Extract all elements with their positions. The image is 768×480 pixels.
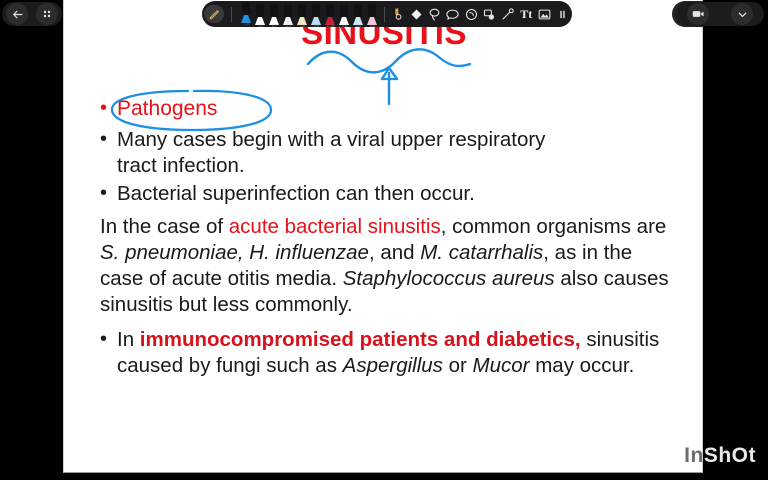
bullet-viral: • Many cases begin with a viral upper re…: [100, 127, 680, 179]
slide-page[interactable]: SINUSITIS • Pathogens • Many cases begin…: [63, 0, 703, 473]
last-text-1: In: [117, 328, 140, 351]
bullet-immunocompromised: • In immunocompromised patients and diab…: [100, 327, 680, 379]
bullet-dot: •: [100, 181, 117, 207]
bullet-dot: •: [100, 327, 117, 353]
slide-body: • Pathogens • Many cases begin with a vi…: [100, 96, 680, 381]
bullet-viral-text: Many cases begin with a viral upper resp…: [117, 127, 680, 179]
last-text-4: may occur.: [530, 354, 635, 377]
text-tool-button[interactable]: Tt: [518, 3, 534, 25]
pen-crimson[interactable]: 0.75: [324, 3, 337, 27]
bullet-viral-line1: Many cases begin with a viral upper resp…: [117, 128, 545, 151]
pen-size-label: 0.6: [338, 24, 351, 28]
bullet-pathogens-label: Pathogens: [117, 96, 680, 123]
last-highlight-immunocompromised: immunocompromised patients and diabetics…: [140, 328, 581, 351]
back-button[interactable]: [6, 3, 28, 25]
grid-dots-icon: [41, 8, 53, 20]
watermark: InShOt: [684, 444, 756, 468]
pen-white-4[interactable]: 0.6: [338, 3, 351, 27]
stamp-icon: [464, 7, 479, 22]
pen-barrel: [312, 4, 320, 17]
bullet-bacterial: • Bacterial superinfection can then occu…: [100, 181, 680, 207]
shapes-icon: [482, 7, 497, 22]
comment-bubble-icon: [445, 7, 460, 22]
pen-lightblue[interactable]: 0.5: [310, 3, 323, 27]
pencil-icon: [208, 8, 221, 21]
pen-white-2[interactable]: 0.7: [268, 3, 281, 27]
pen-white-1[interactable]: 1.0: [254, 3, 267, 27]
pen-palette: 1.01.00.71.00.60.50.750.60.60.6: [236, 1, 380, 27]
stamp-button[interactable]: [463, 3, 479, 25]
pause-button[interactable]: [555, 3, 571, 25]
expand-button[interactable]: [731, 3, 753, 25]
top-toolbar: 1.01.00.71.00.60.50.750.60.60.6: [0, 0, 768, 28]
pen-cream[interactable]: 0.6: [296, 3, 309, 27]
pen-size-label: 0.6: [366, 24, 379, 28]
para-text-1: In the case of: [100, 215, 229, 238]
grid-menu-button[interactable]: [36, 3, 58, 25]
para-highlight-acute-bacterial-sinusitis: acute bacterial sinusitis: [229, 215, 441, 238]
bullet-dot: •: [100, 96, 117, 122]
pen-size-label: 0.7: [268, 24, 281, 28]
pen-lightblue-2[interactable]: 0.6: [352, 3, 365, 27]
pen-pink[interactable]: 0.6: [366, 3, 379, 27]
bullet-pathogens: • Pathogens: [100, 96, 680, 123]
pen-barrel: [340, 4, 348, 17]
pen-size-label: 0.6: [352, 24, 365, 28]
pen-barrel: [242, 2, 250, 15]
para-species-3: Staphylococcus aureus: [343, 267, 555, 290]
pen-barrel: [354, 4, 362, 17]
laser-pointer-button[interactable]: [500, 3, 516, 25]
para-text-2: , common organisms are: [441, 215, 667, 238]
para-species-1: S. pneumoniae, H. influenzae: [100, 241, 369, 264]
bullet-dot: •: [100, 127, 117, 153]
last-text-3: or: [443, 354, 473, 377]
toolbar-divider: [231, 7, 232, 22]
bullet-bacterial-text: Bacterial superinfection can then occur.: [117, 181, 680, 207]
bullet-immunocompromised-text: In immunocompromised patients and diabet…: [117, 327, 680, 379]
pen-blue[interactable]: 1.0: [240, 1, 253, 25]
watermark-suffix: ShOt: [704, 444, 756, 467]
pen-size-label: 0.6: [296, 24, 309, 28]
right-controls: [676, 2, 764, 26]
drawing-toolbar: 1.01.00.71.00.60.50.750.60.60.6: [202, 1, 572, 27]
watermark-prefix: In: [684, 444, 704, 467]
lasso-select-button[interactable]: [426, 3, 442, 25]
toolbar-divider-2: [384, 7, 385, 22]
para-species-2: M. catarrhalis: [420, 241, 543, 264]
last-species-1: Aspergillus: [343, 354, 443, 377]
eraser-icon: [409, 7, 424, 22]
pen-size-label: 0.5: [310, 24, 323, 28]
back-arrow-icon: [11, 8, 24, 21]
insert-image-icon: [537, 7, 552, 22]
pen-barrel: [284, 4, 292, 17]
comment-button[interactable]: [445, 3, 461, 25]
lasso-icon: [427, 7, 442, 22]
pen-size-label: 1.0: [254, 24, 267, 28]
pen-barrel: [298, 4, 306, 17]
pause-icon: [556, 8, 569, 21]
pen-barrel: [270, 4, 278, 17]
left-controls: [2, 2, 62, 26]
eraser-button[interactable]: [408, 3, 424, 25]
shapes-button[interactable]: [481, 3, 497, 25]
chevron-down-icon: [736, 8, 749, 21]
bullet-viral-line2: tract infection.: [117, 154, 245, 177]
pen-barrel: [326, 4, 334, 17]
video-camera-icon: [691, 7, 705, 21]
paragraph-organisms: In the case of acute bacterial sinusitis…: [100, 214, 680, 319]
video-button[interactable]: [687, 3, 709, 25]
laser-icon: [500, 7, 515, 22]
insert-image-button[interactable]: [536, 3, 552, 25]
pen-size-label: 1.0: [240, 22, 253, 26]
text-tool-icon: Tt: [520, 7, 532, 22]
pen-white-3[interactable]: 1.0: [282, 3, 295, 27]
pen-barrel: [368, 4, 376, 17]
pencil-button[interactable]: [204, 5, 224, 23]
last-species-2: Mucor: [473, 354, 530, 377]
pen-barrel: [256, 4, 264, 17]
highlighter-button[interactable]: [390, 3, 406, 25]
pen-size-label: 0.75: [324, 24, 337, 28]
highlighter-icon: [391, 7, 405, 21]
para-text-3: , and: [369, 241, 420, 264]
pen-size-label: 1.0: [282, 24, 295, 28]
